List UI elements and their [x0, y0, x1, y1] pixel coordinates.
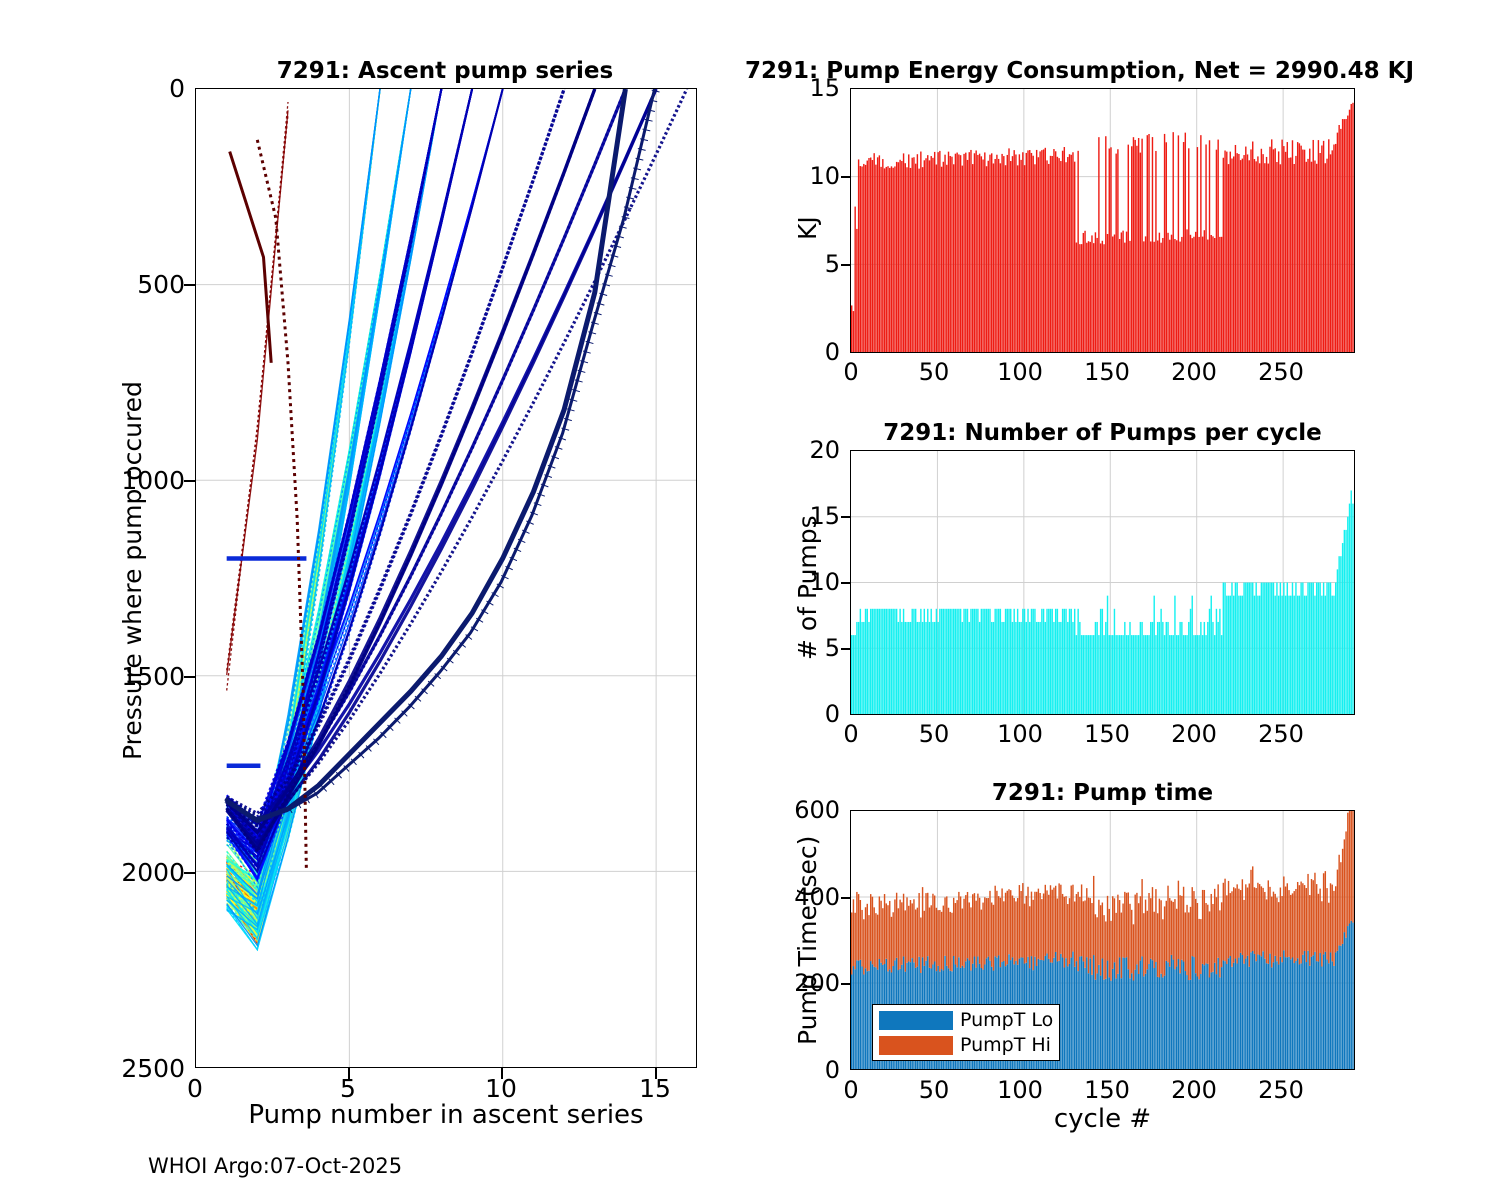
energy-xtick-100: 100: [996, 358, 1044, 386]
energy-xtick-0: 0: [827, 358, 875, 386]
energy-xtick-50: 50: [910, 358, 958, 386]
energy-xtick-200: 200: [1170, 358, 1218, 386]
legend-label-pumpt-lo: PumpT Lo: [960, 1009, 1053, 1031]
legend-row-pumpt-hi: PumpT Hi: [879, 1034, 1053, 1056]
ascent-ytickmark: [184, 676, 195, 678]
energy-ytick-15: 15: [760, 74, 840, 102]
ascent-xtickmark: [348, 1068, 350, 1079]
ascent-ytick-500: 500: [95, 270, 185, 299]
ascent-ytickmark: [184, 872, 195, 874]
ascent-ytickmark: [184, 284, 195, 286]
pumptime-ytickmark: [841, 897, 851, 899]
numpumps-plot-area: [850, 450, 1355, 715]
pumptime-ytick-600: 600: [760, 796, 840, 824]
pumptime-legend: PumpT Lo PumpT Hi: [872, 1004, 1060, 1061]
energy-ylabel: KJ: [793, 216, 822, 240]
numpumps-ytickmark: [841, 582, 851, 584]
energy-xtick-150: 150: [1083, 358, 1131, 386]
energy-title: 7291: Pump Energy Consumption, Net = 299…: [745, 58, 1500, 84]
numpumps-title: 7291: Number of Pumps per cycle: [850, 420, 1355, 446]
legend-row-pumpt-lo: PumpT Lo: [879, 1009, 1053, 1031]
numpumps-xtick-200: 200: [1170, 720, 1218, 748]
pumptime-xlabel: cycle #: [850, 1104, 1355, 1134]
ascent-ylabel: Pressure where pump occured: [118, 381, 147, 760]
ascent-xtickmark: [501, 1068, 503, 1079]
ascent-ytick-0: 0: [95, 74, 185, 103]
ascent-ytick-2000: 2000: [95, 858, 185, 887]
pumptime-xtick-250: 250: [1257, 1076, 1305, 1104]
figure-canvas: 7291: Ascent pump series 0 500 1000 1500…: [0, 0, 1500, 1200]
energy-ytick-10: 10: [760, 162, 840, 190]
pumptime-xtick-0: 0: [827, 1076, 875, 1104]
ascent-xtickmark: [655, 1068, 657, 1079]
numpumps-xtick-150: 150: [1083, 720, 1131, 748]
ascent-plot-area: [195, 88, 697, 1068]
pumptime-xtick-50: 50: [910, 1076, 958, 1104]
energy-xtick-250: 250: [1257, 358, 1305, 386]
energy-ytickmark: [841, 264, 851, 266]
energy-ytick-5: 5: [760, 250, 840, 278]
numpumps-ytickmark: [841, 648, 851, 650]
pumptime-ylabel: Pump Time (sec): [793, 836, 822, 1045]
pumptime-xtick-100: 100: [996, 1076, 1044, 1104]
numpumps-xtick-100: 100: [996, 720, 1044, 748]
legend-swatch-pumpt-hi: [879, 1036, 953, 1055]
pumptime-title: 7291: Pump time: [850, 780, 1355, 806]
legend-swatch-pumpt-lo: [879, 1011, 953, 1030]
numpumps-ylabel: # of Pumps: [793, 515, 822, 660]
pumptime-xtick-200: 200: [1170, 1076, 1218, 1104]
ascent-xlabel: Pump number in ascent series: [195, 1100, 697, 1130]
ascent-title: 7291: Ascent pump series: [195, 58, 695, 84]
pumptime-xtick-150: 150: [1083, 1076, 1131, 1104]
footer-credit: WHOI Argo:07-Oct-2025: [148, 1154, 402, 1178]
legend-label-pumpt-hi: PumpT Hi: [960, 1034, 1051, 1056]
energy-plot-area: [850, 88, 1355, 353]
numpumps-xtick-250: 250: [1257, 720, 1305, 748]
numpumps-xtick-0: 0: [827, 720, 875, 748]
numpumps-ytickmark: [841, 516, 851, 518]
numpumps-ytick-20: 20: [760, 436, 840, 464]
numpumps-xtick-50: 50: [910, 720, 958, 748]
energy-ytickmark: [841, 176, 851, 178]
pumptime-ytickmark: [841, 983, 851, 985]
ascent-ytickmark: [184, 480, 195, 482]
ascent-xtick-0: 0: [170, 1074, 220, 1103]
